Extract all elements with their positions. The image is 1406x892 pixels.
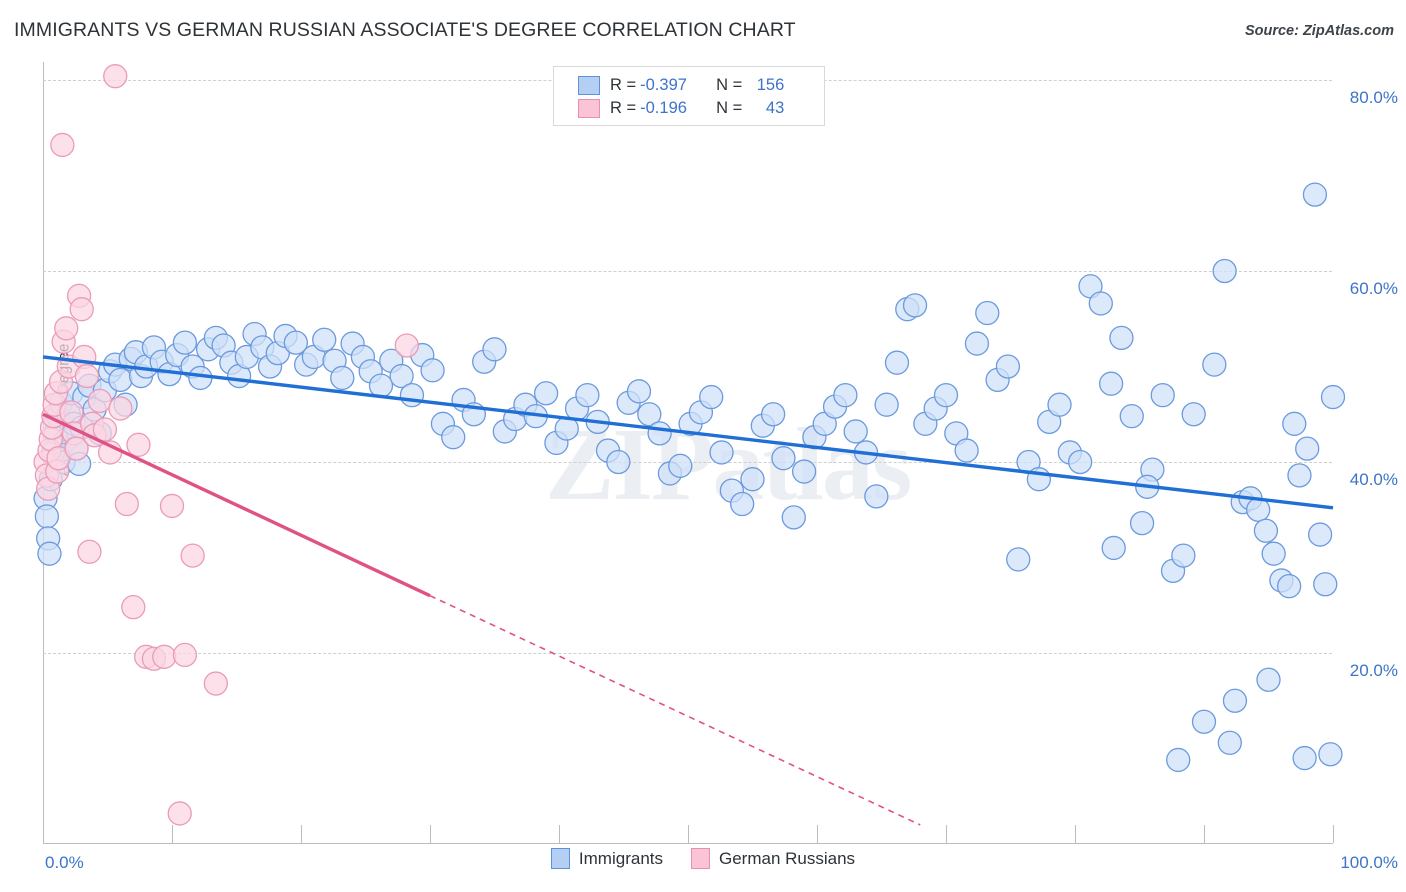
x-tick-80: [1075, 825, 1076, 843]
x-tick-30: [430, 825, 431, 843]
series-label-german-russians: German Russians: [719, 849, 855, 869]
r-value-immigrants: -0.397: [640, 76, 702, 95]
page-title: IMMIGRANTS VS GERMAN RUSSIAN ASSOCIATE'S…: [14, 19, 796, 42]
source-label: Source: ZipAtlas.com: [1245, 23, 1394, 39]
series-swatch-immigrants: [551, 848, 570, 869]
gridline-60: [43, 271, 1332, 272]
y-tick-label-80: 80.0%: [1350, 88, 1398, 108]
series-legend-item-immigrants[interactable]: Immigrants: [551, 848, 663, 869]
n-value-german-russians: 43: [746, 99, 784, 118]
y-tick-label-60: 60.0%: [1350, 279, 1398, 299]
x-axis-line: [43, 843, 1333, 844]
x-tick-40: [559, 825, 560, 843]
x-tick-70: [946, 825, 947, 843]
x-tick-60: [817, 825, 818, 843]
n-label-immigrants: N =: [716, 76, 742, 95]
x-tick-50: [688, 825, 689, 843]
y-tick-label-20: 20.0%: [1350, 661, 1398, 681]
plot-area: [43, 62, 1332, 843]
x-tick-100: [1333, 825, 1334, 843]
series-legend-item-german-russians[interactable]: German Russians: [691, 848, 855, 869]
gridline-40: [43, 462, 1332, 463]
n-label-german-russians: N =: [716, 99, 742, 118]
x-tick-10: [172, 825, 173, 843]
correlation-chart: IMMIGRANTS VS GERMAN RUSSIAN ASSOCIATE'S…: [0, 0, 1406, 892]
series-label-immigrants: Immigrants: [579, 849, 663, 869]
series-legend: Immigrants German Russians: [0, 848, 1406, 869]
y-axis-title-wrap: Associate's Degree: [10, 300, 34, 520]
r-value-german-russians: -0.196: [640, 99, 702, 118]
series-swatch-german-russians: [691, 848, 710, 869]
legend-swatch-german-russians: [578, 99, 600, 118]
stats-row-immigrants: R = -0.397 N = 156: [554, 74, 824, 97]
stats-row-german-russians: R = -0.196 N = 43: [554, 97, 824, 120]
r-label-immigrants: R =: [610, 76, 636, 95]
x-tick-20: [301, 825, 302, 843]
r-label-german-russians: R =: [610, 99, 636, 118]
stats-legend: R = -0.397 N = 156 R = -0.196 N = 43: [553, 66, 825, 126]
legend-swatch-immigrants: [578, 76, 600, 95]
gridline-20: [43, 653, 1332, 654]
x-tick-0: [43, 825, 44, 843]
x-tick-90: [1204, 825, 1205, 843]
n-value-immigrants: 156: [746, 76, 784, 95]
y-tick-label-40: 40.0%: [1350, 470, 1398, 490]
